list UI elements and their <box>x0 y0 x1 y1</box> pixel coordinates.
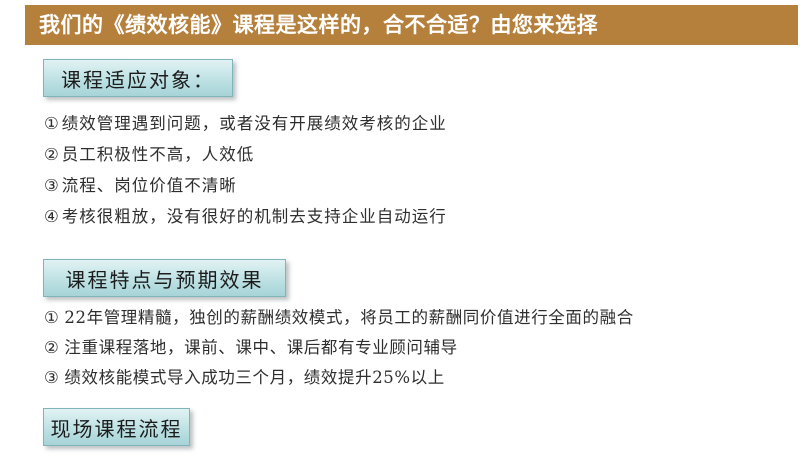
section-title-features-label: 课程特点与预期效果 <box>66 264 264 293</box>
list-item-marker: ① <box>44 303 59 333</box>
list-item-text: 员工积极性不高，人效低 <box>62 145 255 164</box>
list-item-text: 绩效核能模式导入成功三个月，绩效提升25%以上 <box>64 368 444 387</box>
list-item: ②注重课程落地，课前、课中、课后都有专业顾问辅导 <box>44 333 634 363</box>
list-item-marker: ③ <box>44 170 60 201</box>
features-list: ①22年管理精髓，独创的薪酬绩效模式，将员工的薪酬同价值进行全面的融合 ②注重课… <box>44 303 634 393</box>
list-item: ④考核很粗放，没有很好的机制去支持企业自动运行 <box>44 201 447 232</box>
section-title-process: 现场课程流程 <box>43 408 190 446</box>
list-item-marker: ② <box>44 333 59 363</box>
section-title-audience: 课程适应对象： <box>43 59 233 97</box>
list-item-text: 绩效管理遇到问题，或者没有开展绩效考核的企业 <box>62 114 447 133</box>
list-item-text: 22年管理精髓，独创的薪酬绩效模式，将员工的薪酬同价值进行全面的融合 <box>64 308 633 327</box>
list-item: ③流程、岗位价值不清晰 <box>44 170 447 201</box>
audience-list: ①绩效管理遇到问题，或者没有开展绩效考核的企业 ②员工积极性不高，人效低 ③流程… <box>44 108 447 232</box>
list-item-text: 注重课程落地，课前、课中、课后都有专业顾问辅导 <box>64 338 457 357</box>
list-item-marker: ② <box>44 139 60 170</box>
section-title-process-label: 现场课程流程 <box>51 413 183 442</box>
list-item-text: 考核很粗放，没有很好的机制去支持企业自动运行 <box>62 207 447 226</box>
page-title: 我们的《绩效核能》课程是这样的，合不合适？由您来选择 <box>39 15 598 36</box>
list-item-marker: ④ <box>44 201 60 232</box>
list-item-marker: ③ <box>44 363 59 393</box>
header-banner: 我们的《绩效核能》课程是这样的，合不合适？由您来选择 <box>25 5 798 45</box>
list-item-text: 流程、岗位价值不清晰 <box>62 176 237 195</box>
list-item-marker: ① <box>44 108 60 139</box>
list-item: ①绩效管理遇到问题，或者没有开展绩效考核的企业 <box>44 108 447 139</box>
section-title-audience-label: 课程适应对象： <box>61 64 215 93</box>
list-item: ③绩效核能模式导入成功三个月，绩效提升25%以上 <box>44 363 634 393</box>
list-item: ②员工积极性不高，人效低 <box>44 139 447 170</box>
list-item: ①22年管理精髓，独创的薪酬绩效模式，将员工的薪酬同价值进行全面的融合 <box>44 303 634 333</box>
section-title-features: 课程特点与预期效果 <box>43 259 286 297</box>
